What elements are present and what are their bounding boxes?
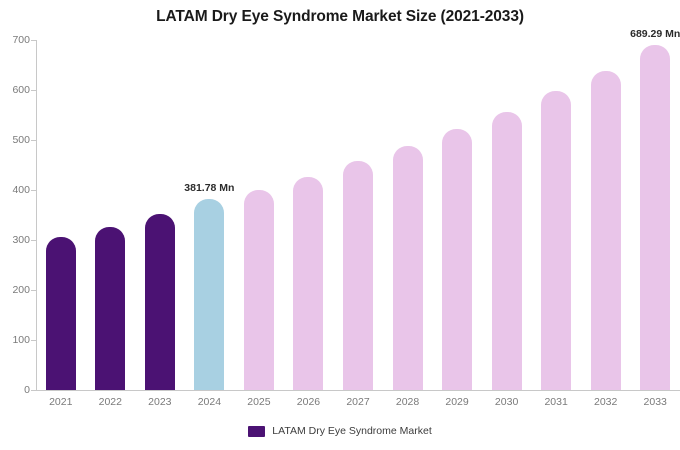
bar-2033[interactable] xyxy=(640,45,670,390)
y-tick-mark xyxy=(31,390,36,391)
x-tick-label-2028: 2028 xyxy=(396,396,419,408)
chart-title: LATAM Dry Eye Syndrome Market Size (2021… xyxy=(0,8,680,26)
bar-2032[interactable] xyxy=(591,71,621,391)
x-tick-label-2025: 2025 xyxy=(247,396,270,408)
x-tick-label-2033: 2033 xyxy=(644,396,667,408)
y-tick-label: 600 xyxy=(12,84,30,96)
bar-2030[interactable] xyxy=(492,112,522,390)
bar-2029[interactable] xyxy=(442,129,472,390)
x-tick-label-2026: 2026 xyxy=(297,396,320,408)
bar-2028[interactable] xyxy=(393,146,423,390)
x-tick-label-2032: 2032 xyxy=(594,396,617,408)
x-tick-label-2021: 2021 xyxy=(49,396,72,408)
data-label-2024: 381.78 Mn xyxy=(184,182,234,194)
bar-2027[interactable] xyxy=(343,161,373,390)
x-tick-label-2022: 2022 xyxy=(99,396,122,408)
bar-2026[interactable] xyxy=(293,177,323,390)
plot-area: 0100200300400500600700 20212022202320242… xyxy=(36,40,680,390)
y-tick-mark xyxy=(31,240,36,241)
legend-swatch-latam-dry-eye-syndrome-market xyxy=(248,426,265,437)
y-tick-mark xyxy=(31,90,36,91)
y-tick-mark xyxy=(31,190,36,191)
bar-chart: LATAM Dry Eye Syndrome Market Size (2021… xyxy=(0,0,680,450)
data-label-2033: 689.29 Mn xyxy=(630,28,680,40)
chart-legend: LATAM Dry Eye Syndrome Market xyxy=(0,425,680,437)
y-tick-mark xyxy=(31,140,36,141)
y-tick-label: 300 xyxy=(12,234,30,246)
x-tick-label-2030: 2030 xyxy=(495,396,518,408)
bar-2021[interactable] xyxy=(46,237,76,390)
bar-2023[interactable] xyxy=(145,214,175,390)
x-axis-line xyxy=(36,390,680,391)
y-tick-label: 500 xyxy=(12,134,30,146)
x-tick-label-2024: 2024 xyxy=(198,396,221,408)
legend-label-latam-dry-eye-syndrome-market: LATAM Dry Eye Syndrome Market xyxy=(272,425,431,437)
x-tick-label-2027: 2027 xyxy=(346,396,369,408)
y-tick-mark xyxy=(31,290,36,291)
y-tick-label: 400 xyxy=(12,184,30,196)
y-tick-label: 0 xyxy=(24,384,30,396)
y-tick-label: 700 xyxy=(12,34,30,46)
x-tick-label-2023: 2023 xyxy=(148,396,171,408)
y-axis-line xyxy=(36,40,37,390)
y-tick-mark xyxy=(31,40,36,41)
x-tick-label-2031: 2031 xyxy=(544,396,567,408)
x-tick-label-2029: 2029 xyxy=(445,396,468,408)
bar-2031[interactable] xyxy=(541,91,571,390)
y-tick-mark xyxy=(31,340,36,341)
y-tick-label: 100 xyxy=(12,334,30,346)
bar-2025[interactable] xyxy=(244,190,274,391)
bar-2022[interactable] xyxy=(95,227,125,391)
bar-2024[interactable] xyxy=(194,199,224,390)
y-tick-label: 200 xyxy=(12,284,30,296)
